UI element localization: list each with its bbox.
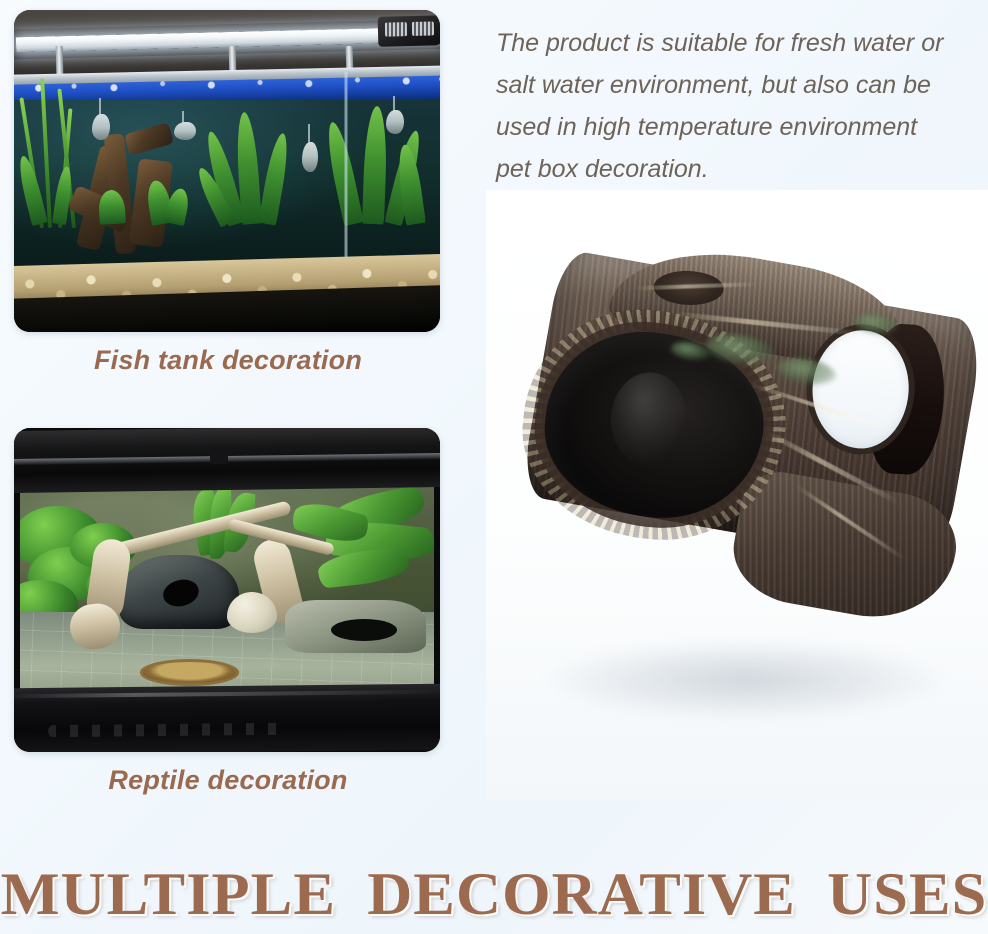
reptile-photo <box>14 428 440 752</box>
angelfish <box>92 114 110 140</box>
terrarium-food-bowl <box>140 659 239 686</box>
cave-entrance-hole <box>160 576 201 610</box>
terrarium-interior <box>20 486 434 690</box>
aquarium-driftwood <box>124 122 174 156</box>
product-shadow <box>546 640 946 720</box>
angelfish <box>386 110 404 134</box>
angelfish <box>302 142 318 172</box>
frame-highlight <box>14 690 440 699</box>
opening-gloss <box>607 369 690 468</box>
terrarium-rock-cave <box>119 555 239 628</box>
marketing-banner: Fish tank decoration <box>0 0 988 934</box>
aquarium-water <box>14 100 440 280</box>
aquatic-plant <box>362 106 388 225</box>
angelfish <box>174 122 196 140</box>
terrarium-egg-rock <box>227 592 277 633</box>
product-photo <box>486 190 988 800</box>
hood-bracket <box>56 46 64 74</box>
fish-tank-photo <box>14 10 440 332</box>
fish-tank-caption: Fish tank decoration <box>8 345 448 376</box>
reptile-caption: Reptile decoration <box>8 765 448 796</box>
aquarium-light-end-cap <box>378 15 440 47</box>
terrarium-slate-hole <box>331 619 397 641</box>
headline-multiple-decorative-uses: MULTIPLE DECORATIVE USES <box>0 862 988 926</box>
terrarium-bottom-frame <box>14 684 440 752</box>
terrarium-lid-handle <box>210 448 228 464</box>
product-description: The product is suitable for fresh water … <box>496 22 958 190</box>
aquatic-plant <box>258 132 292 226</box>
terrarium-vent-slots <box>48 723 282 737</box>
